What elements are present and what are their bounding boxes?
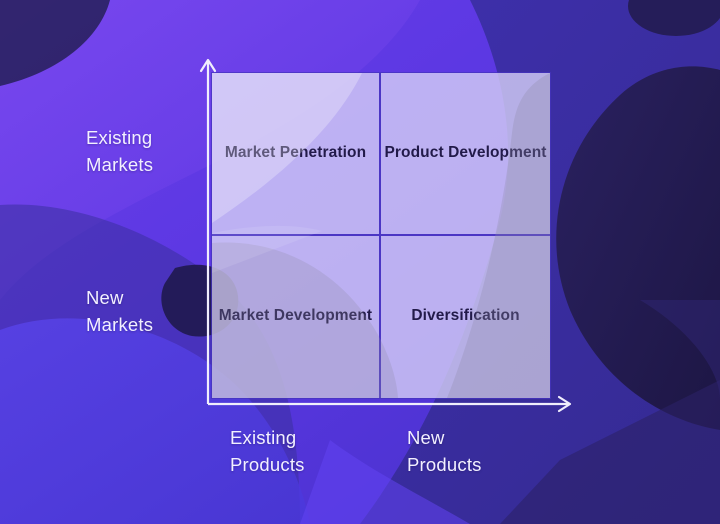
y-axis-label-existing-markets: Existing Markets bbox=[86, 125, 153, 179]
quadrant-market-development[interactable]: Market Development bbox=[212, 236, 381, 399]
quadrant-label-product-development: Product Development bbox=[384, 143, 546, 164]
x-axis-label-new-products: New Products bbox=[407, 425, 482, 479]
quadrant-market-penetration[interactable]: Market Penetration bbox=[212, 73, 381, 236]
y-axis-label-new-markets: New Markets bbox=[86, 285, 153, 339]
matrix-grid: Market Penetration Product Development M… bbox=[212, 73, 550, 398]
ansoff-matrix-diagram: Market Penetration Product Development M… bbox=[0, 0, 720, 524]
quadrant-diversification[interactable]: Diversification bbox=[381, 236, 550, 399]
quadrant-product-development[interactable]: Product Development bbox=[381, 73, 550, 236]
quadrant-label-market-penetration: Market Penetration bbox=[225, 143, 366, 164]
quadrant-label-market-development: Market Development bbox=[219, 306, 372, 327]
x-axis-label-existing-products: Existing Products bbox=[230, 425, 305, 479]
quadrant-label-diversification: Diversification bbox=[411, 306, 519, 327]
